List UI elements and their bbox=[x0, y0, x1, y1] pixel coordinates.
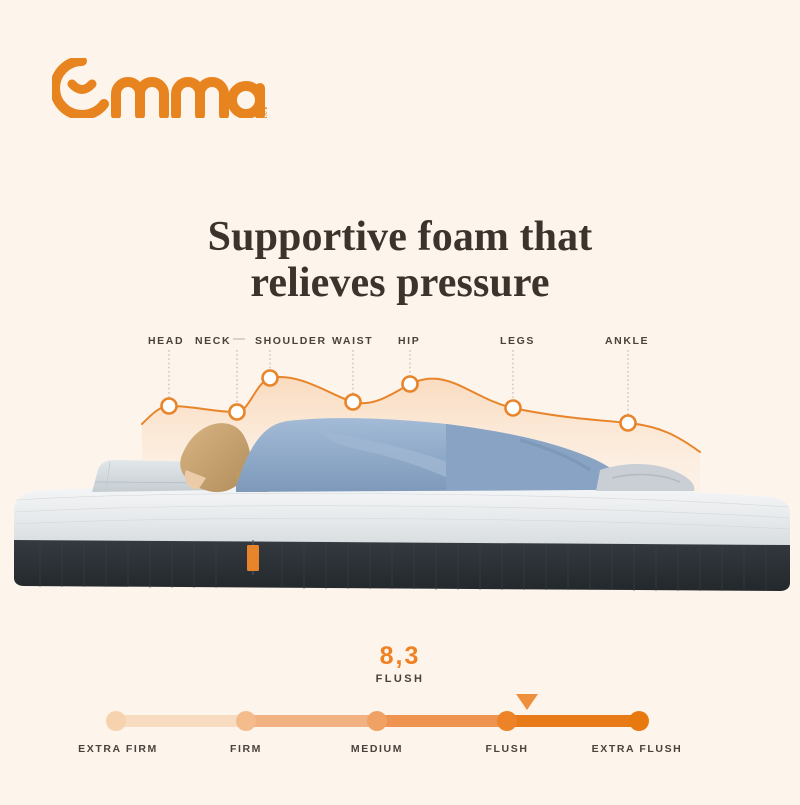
mattress-quilt-texture bbox=[16, 493, 789, 529]
pressure-curve-fill bbox=[142, 377, 700, 500]
page-title: Supportive foam that relieves pressure bbox=[0, 214, 800, 306]
mattress-base bbox=[14, 540, 790, 591]
person-arm bbox=[320, 430, 506, 490]
scale-dot-extra-firm[interactable] bbox=[106, 711, 126, 731]
pillow bbox=[92, 460, 222, 492]
scale-label-firm: FIRM bbox=[230, 743, 262, 755]
part-label-legs: LEGS bbox=[500, 335, 535, 347]
scale-dot-medium[interactable] bbox=[367, 711, 387, 731]
scale-dot-flush[interactable] bbox=[497, 711, 517, 731]
person-torso bbox=[236, 418, 588, 492]
mattress-brand-tag bbox=[247, 540, 259, 575]
scale-label-flush: FLUSH bbox=[486, 743, 529, 755]
pressure-dot-shoulder bbox=[263, 371, 278, 386]
scale-label-extra-firm: EXTRA FIRM bbox=[78, 743, 158, 755]
scale-dot-firm[interactable] bbox=[236, 711, 256, 731]
mattress-base-ribs bbox=[40, 541, 766, 591]
person-hair bbox=[180, 423, 250, 492]
scale-dot-extra-flush[interactable] bbox=[629, 711, 649, 731]
firmness-score: 8,3 FLUSH bbox=[0, 642, 800, 685]
pressure-dot-neck bbox=[230, 405, 245, 420]
pressure-dot-waist bbox=[346, 395, 361, 410]
part-label-neck: NECK bbox=[195, 335, 231, 347]
pressure-dot-head bbox=[162, 399, 177, 414]
svg-text:R: R bbox=[263, 112, 267, 118]
leader-lines bbox=[169, 350, 628, 417]
person-foot bbox=[596, 464, 694, 491]
score-label: FLUSH bbox=[0, 673, 800, 685]
scale-segment-2 bbox=[246, 715, 377, 727]
pressure-markers bbox=[162, 371, 636, 431]
headline-line-1: Supportive foam that bbox=[208, 214, 593, 260]
scale-segment-1 bbox=[116, 715, 246, 727]
poster-canvas: R Supportive foam that relieves pressure bbox=[0, 0, 800, 800]
pressure-dot-hip bbox=[403, 377, 418, 392]
part-label-shoulder: SHOULDER bbox=[255, 335, 327, 347]
part-label-head: HEAD bbox=[148, 335, 184, 347]
headline-line-2: relieves pressure bbox=[0, 260, 800, 306]
scale-label-medium: MEDIUM bbox=[351, 743, 403, 755]
emma-logo: R bbox=[52, 58, 267, 118]
pressure-dot-legs bbox=[506, 401, 521, 416]
sleeping-person bbox=[180, 418, 694, 492]
part-label-hip: HIP bbox=[398, 335, 420, 347]
score-value: 8,3 bbox=[0, 642, 800, 670]
part-label-waist: WAIST bbox=[332, 335, 373, 347]
scale-label-extra-flush: EXTRA FLUSH bbox=[592, 743, 683, 755]
mattress bbox=[14, 483, 790, 591]
emma-wordmark-icon: R bbox=[52, 58, 267, 118]
firmness-pointer-icon bbox=[516, 694, 538, 710]
scale-segment-3 bbox=[377, 715, 507, 727]
part-label-ankle: ANKLE bbox=[605, 335, 649, 347]
person-legs bbox=[446, 424, 632, 490]
pressure-curve-line bbox=[142, 377, 700, 452]
scale-segment-4 bbox=[507, 715, 639, 727]
mattress-top-layer bbox=[14, 483, 790, 545]
person-face bbox=[185, 470, 206, 490]
pressure-dot-ankle bbox=[621, 416, 636, 431]
